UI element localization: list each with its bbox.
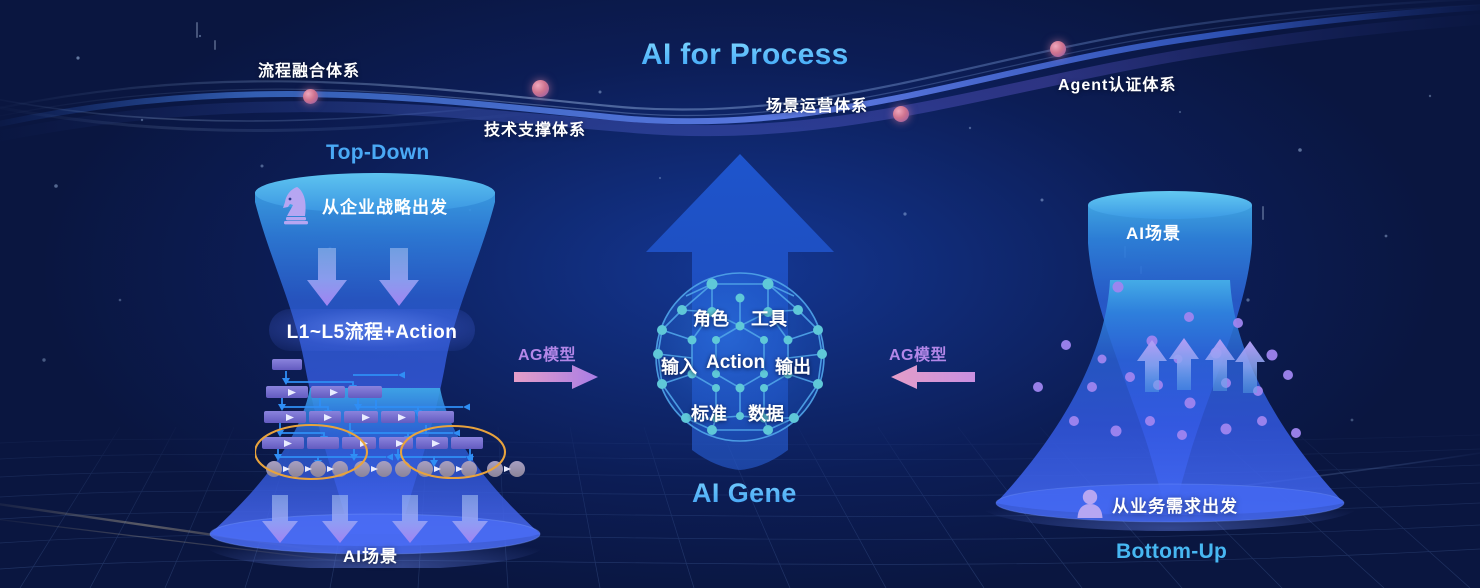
sphere-label-data: 数据 <box>748 400 784 426</box>
left-tower-down-arrows-bottom <box>258 495 498 547</box>
left-tower-eyebrow: Top-Down <box>326 141 429 165</box>
topic-dot-2[interactable] <box>893 106 909 122</box>
right-tower-top-label: AI场景 <box>1126 219 1181 244</box>
left-tower-top-label: 从企业战略出发 <box>322 193 448 218</box>
left-tower-down-arrows-top <box>300 248 430 310</box>
ai-gene-title: AI Gene <box>692 478 797 509</box>
topic-dot-0[interactable] <box>303 89 318 104</box>
topic-dot-3[interactable] <box>1050 41 1066 57</box>
page-title: AI for Process <box>641 38 849 72</box>
topic-label-1[interactable]: 技术支撑体系 <box>484 116 586 140</box>
topic-dot-1[interactable] <box>532 80 549 97</box>
right-tower-eyebrow: Bottom-Up <box>1116 540 1227 564</box>
sphere-label-input: 输入 <box>661 353 697 379</box>
topic-label-3[interactable]: Agent认证体系 <box>1058 71 1176 95</box>
topic-label-2[interactable]: 场景运营体系 <box>766 92 868 116</box>
bridge-right-label: AG模型 <box>889 341 947 365</box>
left-tower-pill-label: L1~L5流程+Action <box>287 317 458 344</box>
left-tower-bottom-label: AI场景 <box>343 542 398 567</box>
left-tower-pill: L1~L5流程+Action <box>269 309 475 351</box>
topic-label-0[interactable]: 流程融合体系 <box>258 57 360 81</box>
highlight-ellipses <box>255 420 525 484</box>
chess-knight-icon <box>281 185 311 225</box>
infographic-canvas: AI for Process 流程融合体系 技术支撑体系 场景运营体系 Agen… <box>0 0 1480 588</box>
sphere-label-output: 输出 <box>775 353 811 379</box>
right-tower-bottom-label: 从业务需求出发 <box>1112 492 1238 517</box>
bridge-left-label: AG模型 <box>518 341 576 365</box>
right-tower-up-arrows <box>1136 338 1266 394</box>
sphere-label-tool: 工具 <box>751 305 787 331</box>
sphere-label-standard: 标准 <box>691 400 727 426</box>
sphere-label-action: Action <box>706 352 765 374</box>
sphere-label-role: 角色 <box>693 305 729 331</box>
person-icon <box>1076 488 1104 518</box>
bridge-left-arrow-right-icon <box>514 365 600 389</box>
